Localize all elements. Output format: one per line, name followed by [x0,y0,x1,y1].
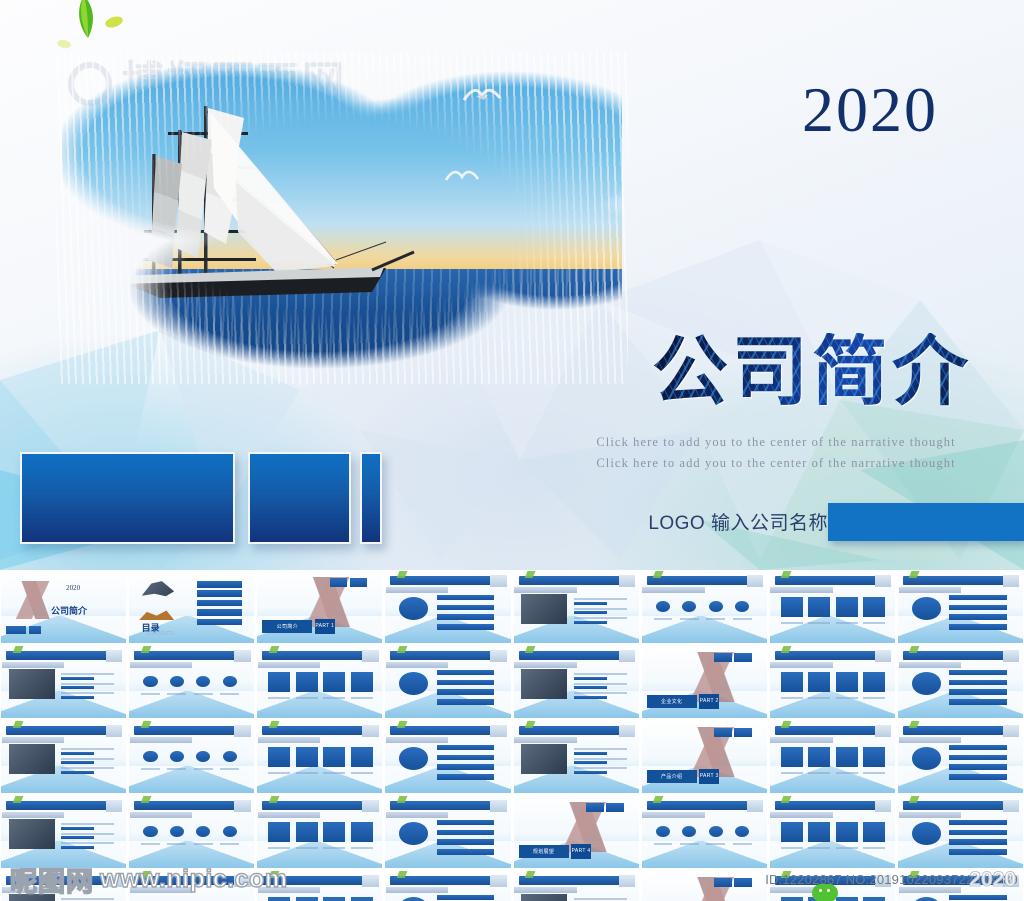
thumb-block [268,897,290,901]
thumb-subtitle: CONTENTS [147,631,175,637]
thumb-part-number: PART 4 [571,844,591,860]
thumb-body [265,816,375,859]
slide-thumbnail[interactable] [129,721,254,793]
thumb-bar [350,578,368,587]
poster-page: 博翔百面网 [0,0,1024,901]
thumb-text-line [61,748,114,750]
thumb-block [949,895,1006,900]
thumb-body [393,666,503,709]
thumb-body [777,741,887,784]
thumb-page-chip [234,800,250,812]
thumb-text-line [574,673,627,675]
thumb-bar [714,728,732,737]
thumb-body [521,591,631,634]
thumb-text-line [351,772,373,774]
thumb-page-chip [490,575,506,587]
thumb-text-line [781,697,803,699]
sailing-ship [86,92,416,342]
thumb-text-line [574,758,627,760]
thumb-block [437,699,494,704]
thumb-bar [714,878,732,887]
thumb-page-chip [1003,575,1019,587]
thumb-bar [6,626,26,635]
slide-thumbnail[interactable] [129,646,254,718]
thumb-header-bar [262,801,370,810]
thumb-text-line [220,843,239,845]
thumb-page-chip [490,650,506,662]
thumb-page-chip [234,650,250,662]
thumb-block [574,621,607,624]
thumb-block [863,822,885,842]
nipic-watermark-url: www.nipic.com [100,865,288,894]
thumb-block [781,747,803,767]
slide-thumbnail[interactable] [898,721,1023,793]
thumb-block [574,761,607,764]
thumb-circle [735,826,749,837]
thumb-text-line [574,748,627,750]
thumb-text-line [167,768,186,770]
thumb-block [781,597,803,617]
slide-thumbnail[interactable] [257,646,382,718]
slide-thumbnail[interactable] [1,646,126,718]
thumb-page-chip [619,575,635,587]
thumb-header-bar [390,576,498,585]
thumb-text-line [61,823,114,825]
thumb-block [61,686,94,689]
thumb-text-line [268,697,290,699]
thumb-part-title: 公司简介 [262,620,312,633]
thumb-text-line [268,772,290,774]
thumb-text-line [863,697,885,699]
thumb-block [437,839,494,844]
thumb-header-bar [775,801,883,810]
thumb-page-chip [234,725,250,737]
seagull-icon [462,86,502,106]
thumb-header-bar [390,876,498,885]
slide-thumbnail[interactable] [385,796,510,868]
thumb-page-chip [619,725,635,737]
thumb-circle [399,747,428,769]
thumb-block [863,747,885,767]
blue-bar-large[interactable] [20,452,235,544]
slide-thumbnail[interactable]: 企业文化PART 2 [642,646,767,718]
thumb-photo [521,744,567,774]
thumb-circle [912,897,941,901]
thumb-text-line [323,697,345,699]
thumb-block [61,771,94,774]
slide-thumbnail[interactable] [514,646,639,718]
thumb-text-line [863,772,885,774]
slide-thumbnail[interactable] [898,796,1023,868]
thumb-block [61,827,94,830]
thumb-text-line [808,772,830,774]
thumb-text-line [680,843,699,845]
thumb-block [296,897,318,901]
thumb-block [949,699,1006,704]
thumb-text-line [141,768,160,770]
thumb-block [863,597,885,617]
slide-thumbnail[interactable] [898,646,1023,718]
thumb-photo [9,744,55,774]
thumb-block [781,897,803,901]
thumb-body [521,741,631,784]
thumb-block [949,820,1006,825]
thumb-block [296,747,318,767]
thumb-page-chip [619,650,635,662]
thumb-circle [656,601,670,612]
slide-thumbnail[interactable] [257,721,382,793]
thumb-circle [682,601,696,612]
thumb-text-line [680,618,699,620]
thumb-text-line [733,843,752,845]
thumb-text-line [61,842,114,844]
watercolor-brush-seascape [62,58,622,378]
thumb-body [393,891,503,901]
slide-thumbnail[interactable]: 联系我们PART 5 [642,871,767,901]
thumb-text-line [836,622,858,624]
thumb-title: 公司简介 [51,604,87,617]
thumb-block [949,614,1006,619]
slide-thumbnail[interactable] [385,721,510,793]
thumb-body [393,816,503,859]
thumb-block [323,822,345,842]
thumb-block [781,672,803,692]
thumb-text-line [654,843,673,845]
slide-thumbnail[interactable] [1,796,126,868]
thumb-block [437,689,494,694]
thumb-body [777,591,887,634]
slide-thumbnail[interactable] [770,721,895,793]
brush-mask [62,58,622,378]
thumb-part-title: 规划展望 [519,845,569,858]
thumb-block [351,822,373,842]
thumb-circle [223,826,237,837]
slide-thumbnail[interactable]: 2020公司简介 [1,571,126,643]
thumb-header-bar [134,726,242,735]
thumb-circle [682,826,696,837]
thumb-circle [399,672,428,694]
thumb-body [9,741,119,784]
thumb-text-line [351,847,373,849]
thumb-header-bar [903,576,1011,585]
green-leaves-decoration [48,0,168,52]
slide-thumbnail[interactable] [385,646,510,718]
thumb-header-bar [390,651,498,660]
thumb-page-chip [1003,650,1019,662]
thumb-text-line [863,622,885,624]
thumb-text-line [220,693,239,695]
thumb-block [437,595,494,600]
thumb-part-title: 企业文化 [647,695,697,708]
thumb-header-bar [519,876,627,885]
slide-thumbnail[interactable] [385,571,510,643]
thumb-body [905,666,1015,709]
thumb-body [9,666,119,709]
thumb-header-bar [775,726,883,735]
thumb-block [61,836,94,839]
seagull-icon [444,168,480,186]
thumb-block [836,747,858,767]
blue-bar-medium[interactable] [248,452,351,544]
thumb-text-line [61,758,114,760]
thumb-text-line [61,673,114,675]
thumb-text-line [574,598,627,600]
thumb-body [777,666,887,709]
thumb-body [393,591,503,634]
thumb-block [574,677,607,680]
slide-thumbnail[interactable]: 目录CONTENTS [129,571,254,643]
thumb-year: 2020 [66,584,80,592]
thumb-header-bar [647,801,755,810]
slide-thumbnail[interactable] [642,796,767,868]
thumb-text-line [167,693,186,695]
thumb-block [268,822,290,842]
thumb-page-chip [1003,800,1019,812]
slide-thumbnail[interactable] [514,721,639,793]
thumb-block [808,597,830,617]
slide-thumbnail[interactable] [385,871,510,901]
thumb-text-line [781,622,803,624]
thumb-block [836,672,858,692]
nipic-watermark: 昵图网 www.nipic.com [10,862,288,896]
thumb-header-bar [775,576,883,585]
slide-thumbnail[interactable] [514,571,639,643]
thumb-part-number: PART 2 [699,694,719,710]
blue-bar-thin[interactable] [360,452,382,544]
thumb-text-line [351,697,373,699]
thumb-circle [399,822,428,844]
thumb-text-line [574,683,627,685]
thumb-text-line [706,618,725,620]
thumb-circle [709,826,723,837]
thumb-header-bar [903,726,1011,735]
thumb-page-chip [490,725,506,737]
thumb-header-bar [6,726,114,735]
thumb-part-title: 产品介绍 [647,770,697,783]
thumb-header-bar [134,651,242,660]
thumb-page-chip [1003,725,1019,737]
thumb-menu-item [197,590,242,596]
thumb-block [781,822,803,842]
thumb-block [61,696,94,699]
thumb-page-chip [490,875,506,887]
thumb-menu-item [197,609,242,615]
thumb-block [949,605,1006,610]
thumb-page-chip [106,800,122,812]
thumb-block [949,774,1006,779]
thumb-page-chip [875,800,891,812]
thumb-page-chip [875,725,891,737]
leaves-icon [48,0,168,52]
slide-thumbnail[interactable]: 规划展望PART 4 [514,796,639,868]
slide-thumbnail[interactable] [898,571,1023,643]
thumb-block [323,672,345,692]
thumb-text-line [194,843,213,845]
thumb-header-bar [390,726,498,735]
logo-company-label: LOGO 输入公司名称 [648,508,828,535]
thumb-body [393,741,503,784]
thumb-block [437,680,494,685]
thumb-block [574,696,607,699]
thumb-block [296,672,318,692]
thumb-text-line [194,693,213,695]
slide-thumbnail[interactable] [257,796,382,868]
thumb-text-line [574,692,627,694]
thumb-block [437,895,494,900]
subtitle-text: Click here to add you to the center of t… [580,432,972,473]
thumb-text-line [808,847,830,849]
slide-thumbnail[interactable] [129,796,254,868]
thumb-circle [735,601,749,612]
thumb-block [437,624,494,629]
thumb-block [949,680,1006,685]
page-title: 公司简介 [652,333,972,413]
slide-thumbnail-grid[interactable]: 2020公司简介目录CONTENTS公司简介PART 1企业文化PART 2产品… [0,570,1024,901]
thumb-circle [656,826,670,837]
thumb-circle [196,751,210,762]
thumb-page-chip [747,575,763,587]
thumb-bar [734,653,752,662]
thumb-text-line [863,847,885,849]
thumb-menu-item [197,581,242,587]
nipic-watermark-cn: 昵图网 [10,860,94,899]
thumb-header-bar [519,576,627,585]
thumb-header-bar [134,801,242,810]
thumb-block [351,747,373,767]
thumb-page-chip [619,875,635,887]
thumb-text-line [167,843,186,845]
thumb-block [949,839,1006,844]
thumb-header-bar [6,651,114,660]
thumb-text-line [61,692,114,694]
slide-thumbnail[interactable]: 产品介绍PART 3 [642,721,767,793]
thumb-body [137,741,247,784]
thumb-block [949,755,1006,760]
thumb-body [905,816,1015,859]
thumb-block [808,747,830,767]
thumb-bar [734,878,752,887]
thumb-text-line [61,767,114,769]
thumb-page-chip [362,650,378,662]
thumb-circle [223,676,237,687]
thumb-block [949,670,1006,675]
thumb-text-line [574,608,627,610]
thumb-page-chip [106,725,122,737]
thumb-block [836,597,858,617]
thumb-circle [912,822,941,844]
thumb-body [265,666,375,709]
thumb-circle [223,751,237,762]
slide-thumbnail[interactable] [642,571,767,643]
thumb-block [437,774,494,779]
thumb-photo [9,819,55,849]
thumb-block [863,672,885,692]
thumb-header-bar [903,651,1011,660]
thumb-text-line [808,622,830,624]
thumb-page-chip [362,800,378,812]
thumb-header-bar [6,801,114,810]
thumb-photo [521,894,567,901]
slide-thumbnail[interactable] [1,721,126,793]
thumb-block [574,771,607,774]
thumb-page-chip [362,875,378,887]
thumb-block [574,752,607,755]
thumb-block [351,672,373,692]
thumb-circle [912,597,941,619]
thumb-header-bar [262,726,370,735]
slide-thumbnail[interactable] [770,646,895,718]
thumb-text-line [781,847,803,849]
thumb-circle [399,597,428,619]
company-name-placeholder-box[interactable] [828,503,1024,541]
thumb-block [61,677,94,680]
thumb-block [574,602,607,605]
thumb-block [949,849,1006,854]
thumb-bar [29,626,42,635]
thumb-bar [734,728,752,737]
thumb-circle [912,747,941,769]
thumb-header-bar [903,801,1011,810]
thumb-circle [399,897,428,901]
thumb-text-line [296,772,318,774]
slide-thumbnail[interactable] [770,571,895,643]
thumb-text-line [781,772,803,774]
thumb-block [323,897,345,901]
thumb-text-line [733,618,752,620]
thumb-block [437,745,494,750]
thumb-eagle-art [142,581,175,605]
thumb-block [949,624,1006,629]
slide-thumbnail[interactable] [770,796,895,868]
thumb-circle [170,676,184,687]
thumb-text-line [61,683,114,685]
thumb-menu-item [197,619,242,625]
thumb-block [437,755,494,760]
thumb-body [905,591,1015,634]
thumb-photo [9,669,55,699]
thumb-header-bar [262,651,370,660]
thumb-block [949,745,1006,750]
thumb-body [649,816,759,859]
slide-thumbnail[interactable]: 公司简介PART 1 [257,571,382,643]
thumb-page-chip [875,650,891,662]
thumb-menu-item [197,600,242,606]
thumb-body [137,666,247,709]
thumb-page-chip [106,650,122,662]
thumb-text-line [323,772,345,774]
thumb-photo [521,594,567,624]
thumb-body [137,816,247,859]
thumb-text-line [220,768,239,770]
thumb-text-line [141,843,160,845]
thumb-block [949,595,1006,600]
thumb-text-line [61,833,114,835]
thumb-body [521,891,631,901]
thumb-text-line [323,847,345,849]
thumb-text-line [808,697,830,699]
thumb-block [574,611,607,614]
thumb-text-line [296,697,318,699]
year-heading: 2020 [802,78,938,142]
hero-banner: 博翔百面网 [0,0,1024,570]
thumb-page-chip [490,800,506,812]
slide-thumbnail[interactable] [514,871,639,901]
thumb-text-line [836,772,858,774]
thumb-text-line [574,767,627,769]
thumb-body [777,816,887,859]
thumb-block [351,897,373,901]
thumb-bar [586,803,604,812]
